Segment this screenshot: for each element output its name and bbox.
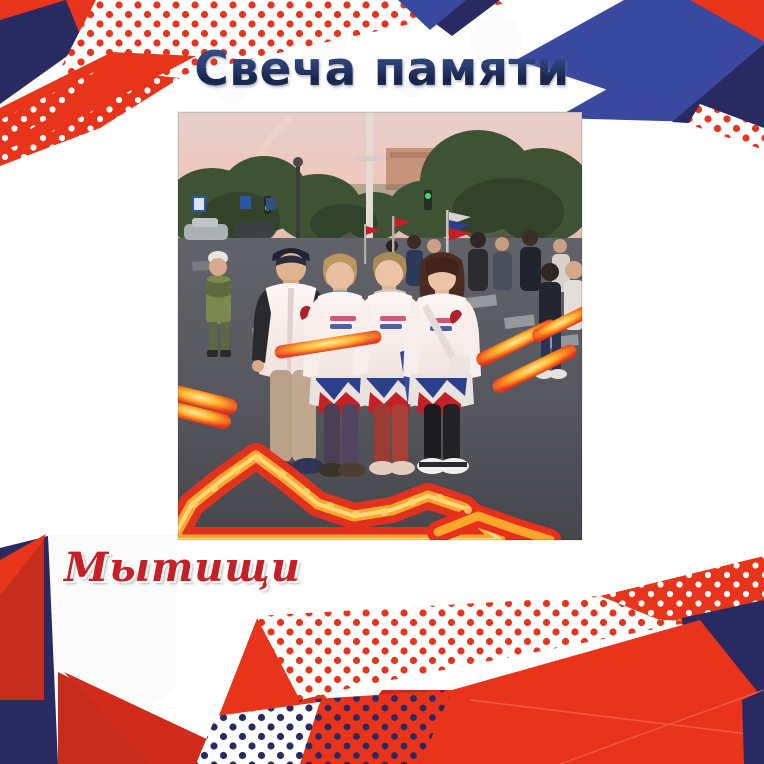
city-name: Мытищи: [64, 544, 301, 591]
event-photo: [178, 112, 582, 540]
title-block: Свеча памяти: [0, 46, 764, 93]
city-caption-block: Мытищи: [64, 548, 301, 588]
page-title: Свеча памяти: [194, 46, 569, 93]
poster-canvas: Свеча памяти: [0, 0, 764, 764]
photo-illustration: [178, 112, 582, 540]
